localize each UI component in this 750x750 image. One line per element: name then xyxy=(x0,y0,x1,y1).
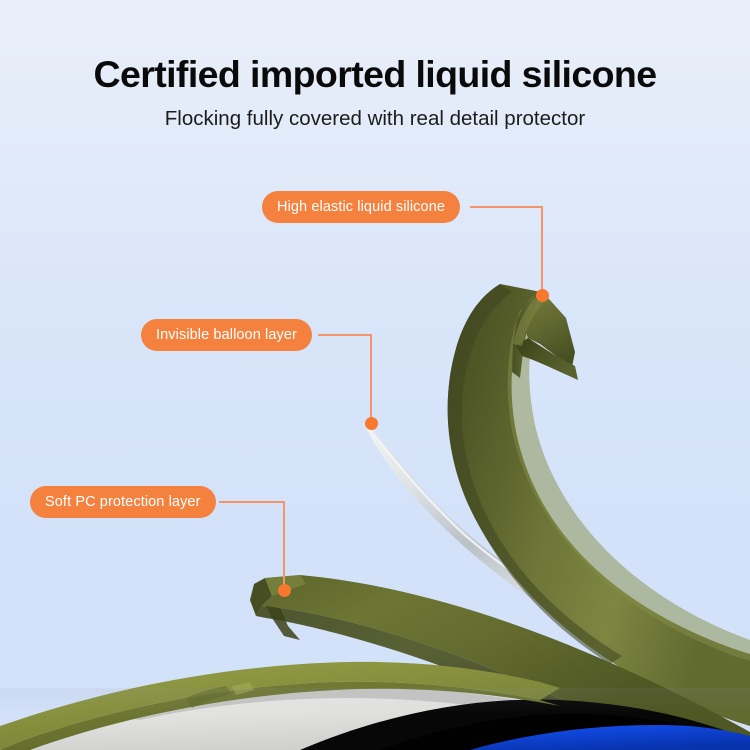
callout-label-high-elastic-liquid-silicone[interactable]: High elastic liquid silicone xyxy=(262,191,460,223)
connector-line-horizontal-2 xyxy=(318,334,372,336)
callout-dot-invisible-balloon-layer xyxy=(365,417,378,430)
connector-line-horizontal-3 xyxy=(219,501,285,503)
page-subtitle: Flocking fully covered with real detail … xyxy=(0,95,750,131)
header: Certified imported liquid silicone Flock… xyxy=(0,0,750,130)
connector-line-vertical-3 xyxy=(283,501,285,591)
connector-line-horizontal-1 xyxy=(470,206,543,208)
callout-label-soft-pc-protection-layer[interactable]: Soft PC protection layer xyxy=(30,486,216,518)
callout-dot-soft-pc-protection-layer xyxy=(278,584,291,597)
connector-line-vertical-2 xyxy=(370,334,372,424)
callout-label-invisible-balloon-layer[interactable]: Invisible balloon layer xyxy=(141,319,312,351)
page-title: Certified imported liquid silicone xyxy=(0,0,750,95)
connector-line-vertical-1 xyxy=(541,206,543,296)
callout-dot-high-elastic-liquid-silicone xyxy=(536,289,549,302)
infographic-canvas: Certified imported liquid silicone Flock… xyxy=(0,0,750,750)
